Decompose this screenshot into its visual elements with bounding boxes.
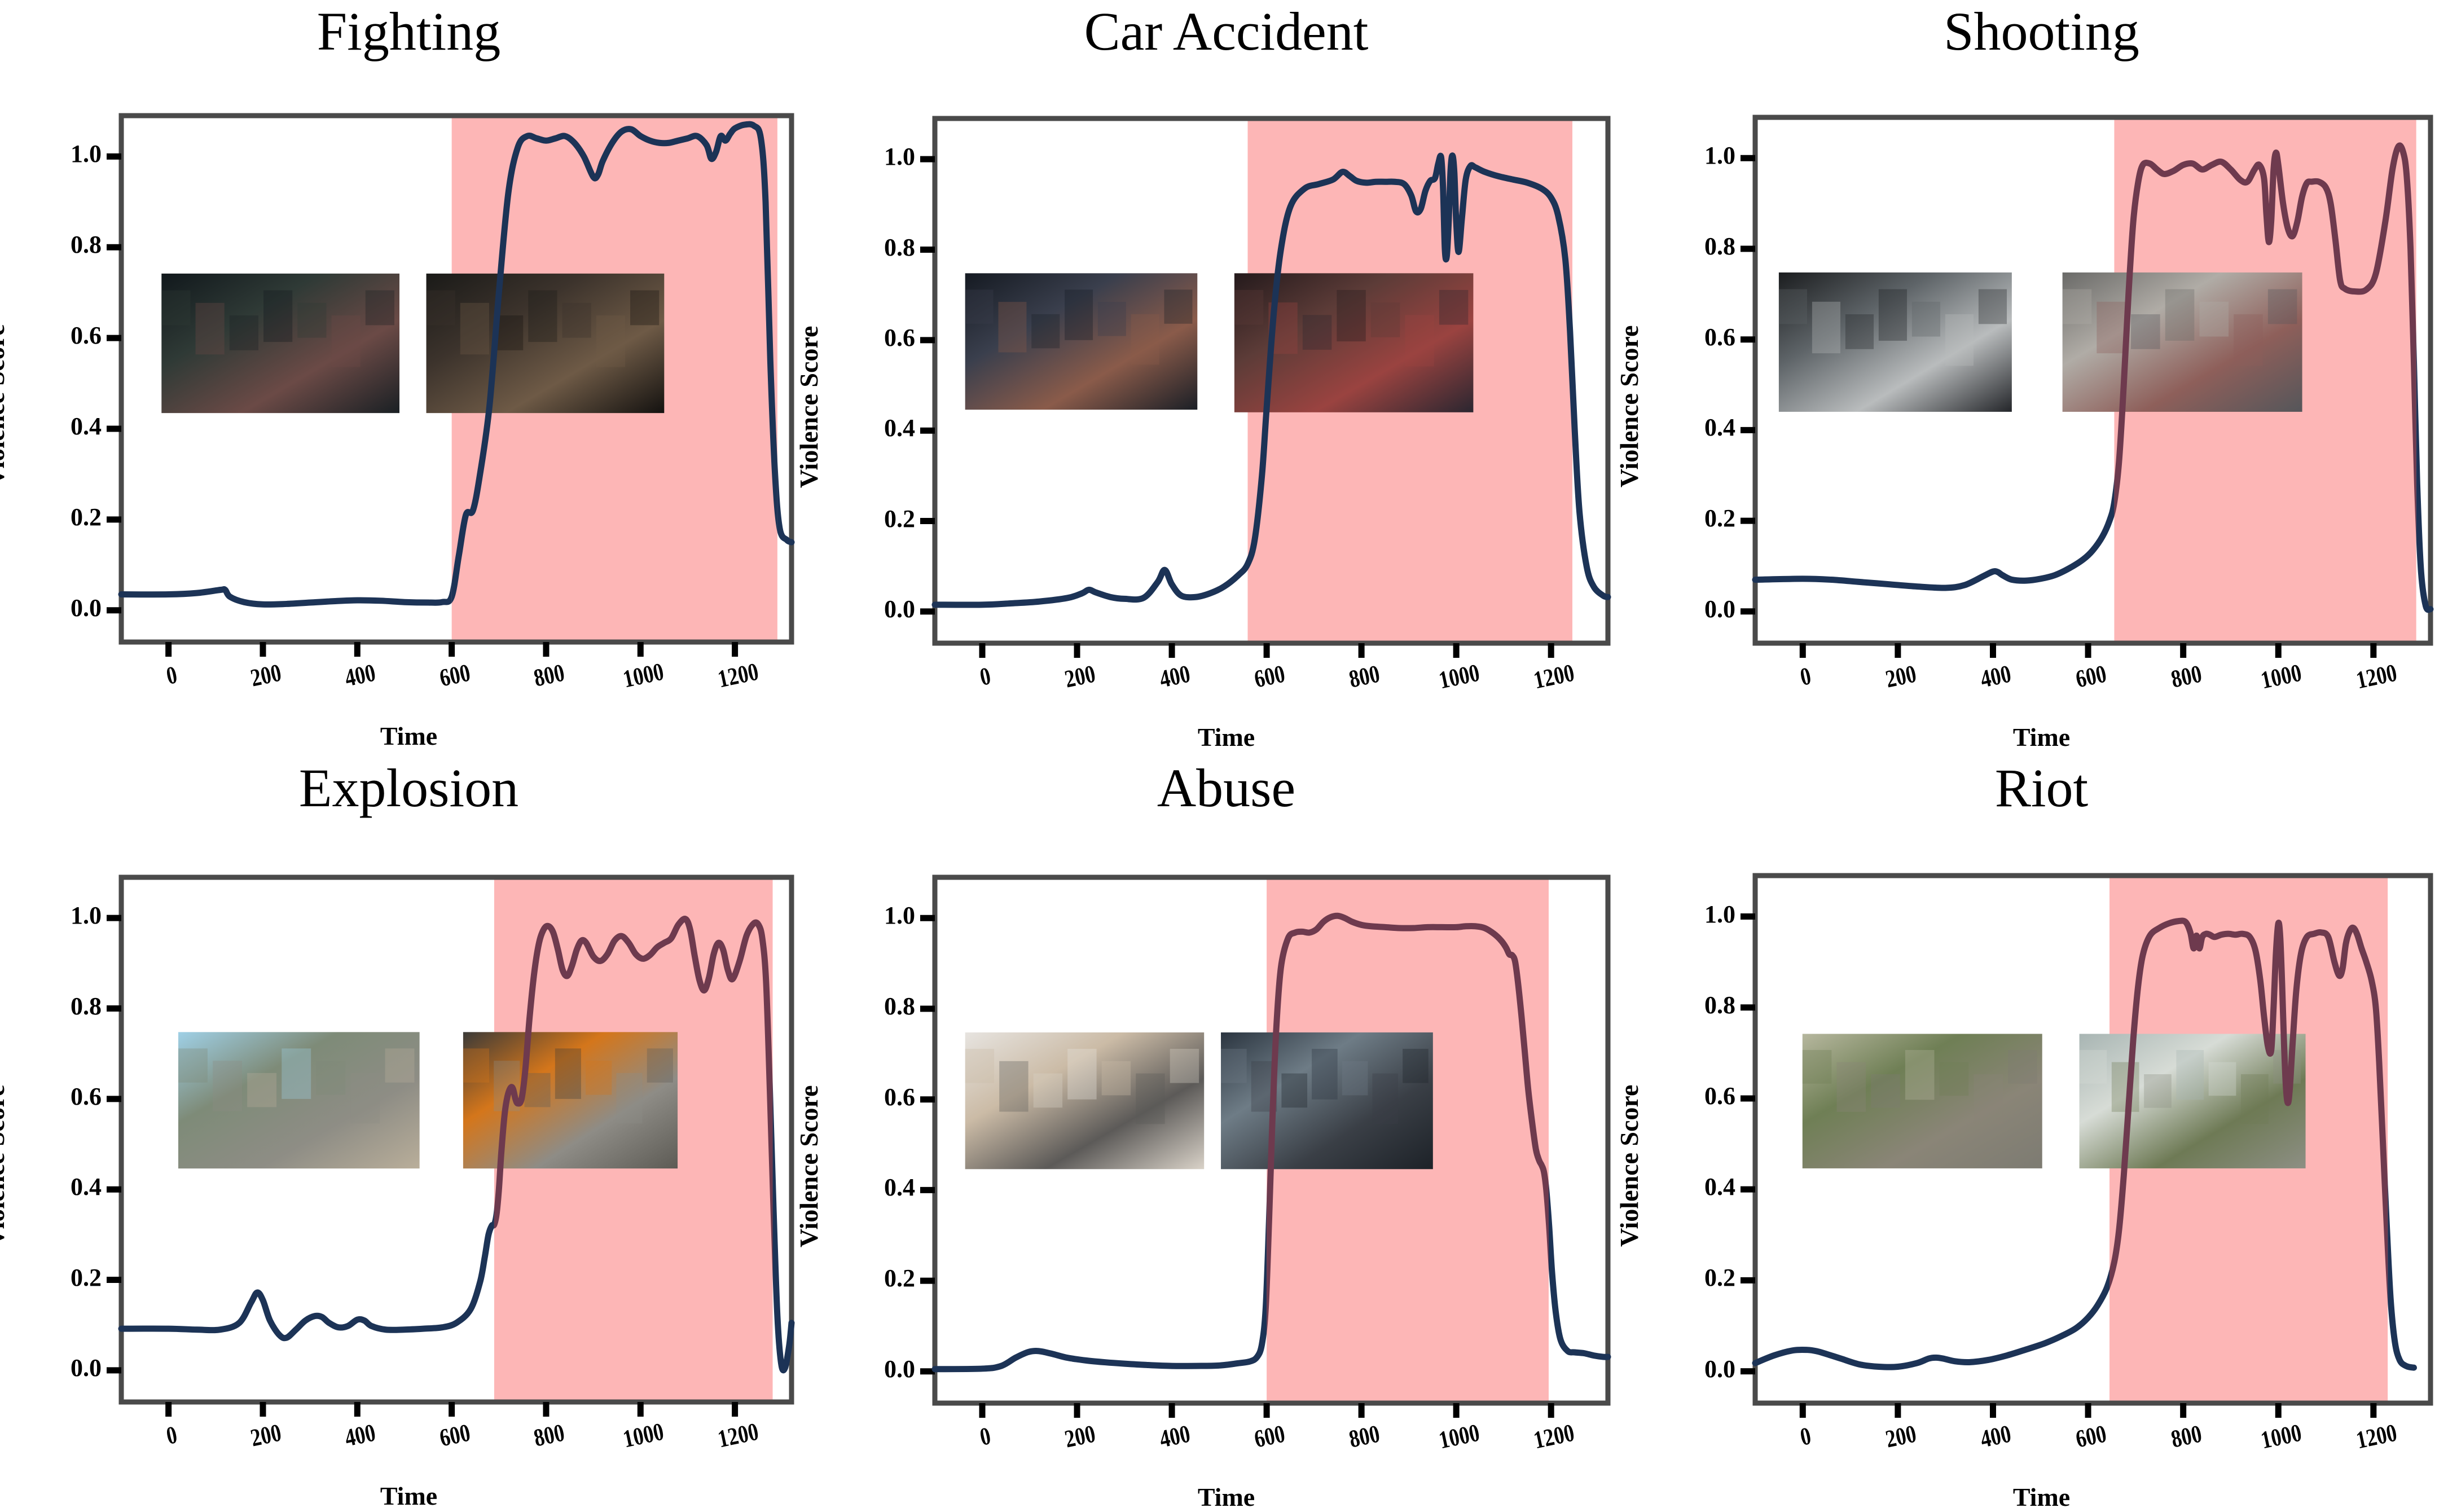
x-axis-title: Time	[0, 1481, 818, 1511]
y-tick-label: 1.0	[811, 142, 915, 171]
violence-score-chart	[818, 0, 1635, 754]
inset-pre-event-frame	[1803, 1034, 2042, 1168]
y-tick-label: 1.0	[811, 901, 915, 930]
x-axis-title: Time	[818, 1482, 1635, 1512]
y-tick-label: 0.0	[811, 595, 915, 623]
y-tick-label: 0.2	[1631, 504, 1735, 533]
y-tick-label: 0.4	[1631, 413, 1735, 442]
y-tick-label: 0.6	[0, 1082, 102, 1111]
y-axis-title: Violence Score	[794, 326, 824, 488]
inset-pre-event-frame	[178, 1032, 420, 1168]
y-tick-label: 0.8	[1631, 991, 1735, 1019]
y-tick-label: 0.4	[811, 1173, 915, 1202]
violence-score-chart	[818, 754, 1635, 1509]
y-tick-label: 0.2	[1631, 1263, 1735, 1292]
y-tick-label: 0.6	[1631, 323, 1735, 351]
y-axis-title: Violence Score	[1614, 326, 1644, 487]
violence-score-chart	[0, 754, 818, 1509]
inset-pre-event-frame	[965, 1032, 1205, 1169]
violence-score-chart	[1635, 754, 2448, 1509]
y-tick-label: 0.4	[811, 414, 915, 442]
panel-explosion: Explosion 0.00.20.40.60.81.0020040060080…	[0, 754, 818, 1509]
inset-pre-event-frame	[965, 273, 1198, 410]
x-axis-title: Time	[0, 721, 818, 751]
inset-pre-event-frame	[161, 274, 399, 413]
y-tick-label: 0.2	[811, 1264, 915, 1293]
y-tick-label: 0.6	[0, 321, 102, 350]
inset-event-frame	[427, 274, 665, 413]
y-tick-label: 0.2	[0, 1263, 102, 1292]
y-tick-label: 0.4	[1631, 1172, 1735, 1201]
violence-score-chart	[0, 0, 818, 754]
inset-event-frame	[2063, 272, 2302, 412]
y-tick-label: 0.8	[811, 233, 915, 262]
y-axis-title: Violence Score	[0, 324, 10, 486]
x-axis-title: Time	[1635, 1482, 2448, 1512]
panel-shooting: Shooting 0.00.20.40.60.81.00200400600800…	[1635, 0, 2448, 754]
y-tick-label: 0.0	[0, 1353, 102, 1382]
panel-abuse: Abuse 0.00.20.40.60.81.00200400600800100…	[818, 754, 1635, 1509]
inset-pre-event-frame	[1779, 272, 2012, 412]
y-tick-label: 0.4	[0, 412, 102, 441]
y-tick-label: 0.6	[811, 323, 915, 352]
y-tick-label: 0.8	[0, 230, 102, 259]
panel-car-accident: Car Accident 0.00.20.40.60.81.0020040060…	[818, 0, 1635, 754]
panel-riot: Riot 0.00.20.40.60.81.002004006008001000…	[1635, 754, 2448, 1509]
x-axis-title: Time	[818, 722, 1635, 752]
y-tick-label: 0.8	[0, 992, 102, 1021]
y-tick-label: 0.0	[0, 594, 102, 622]
y-tick-label: 0.2	[0, 503, 102, 531]
inset-event-frame	[1221, 1032, 1433, 1169]
figure-grid: Fighting 0.00.20.40.60.81.00200400600800…	[0, 0, 2448, 1509]
y-tick-label: 0.0	[1631, 595, 1735, 623]
violence-score-chart	[1635, 0, 2448, 754]
inset-event-frame	[463, 1032, 678, 1168]
y-axis-title: Violence Score	[1614, 1084, 1644, 1246]
panel-fighting: Fighting 0.00.20.40.60.81.00200400600800…	[0, 0, 818, 754]
y-tick-label: 0.6	[1631, 1082, 1735, 1110]
y-tick-label: 1.0	[0, 901, 102, 930]
y-tick-label: 0.8	[1631, 232, 1735, 261]
y-tick-label: 0.6	[811, 1083, 915, 1111]
x-axis-title: Time	[1635, 722, 2448, 752]
y-tick-label: 0.0	[811, 1355, 915, 1383]
y-tick-label: 0.2	[811, 504, 915, 533]
y-tick-label: 0.8	[811, 992, 915, 1021]
y-tick-label: 0.0	[1631, 1355, 1735, 1383]
y-axis-title: Violence Score	[794, 1085, 824, 1247]
y-tick-label: 1.0	[0, 139, 102, 168]
y-tick-label: 1.0	[1631, 900, 1735, 929]
y-axis-title: Violence Score	[0, 1085, 10, 1247]
y-tick-label: 0.4	[0, 1172, 102, 1201]
y-tick-label: 1.0	[1631, 141, 1735, 170]
